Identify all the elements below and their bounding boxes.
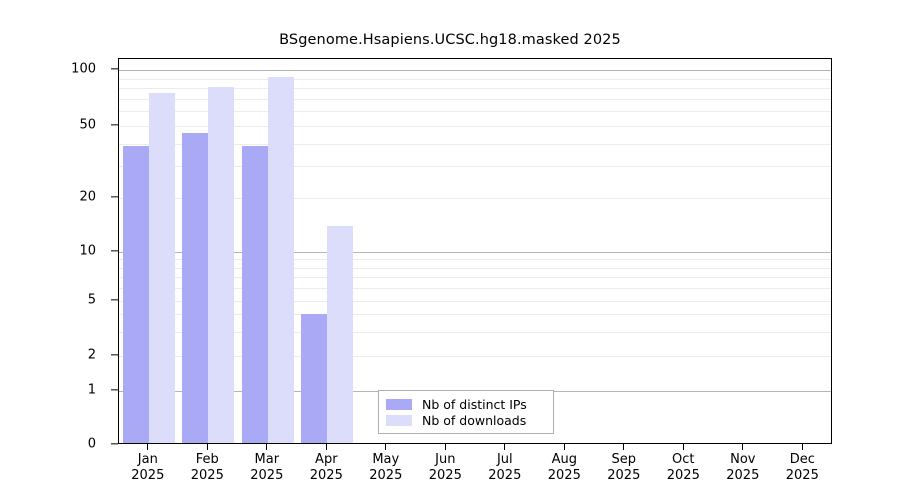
x-tick-label-dec: Dec2025 xyxy=(786,452,819,484)
bar-apr-distinct-ips xyxy=(301,314,327,444)
y-tick-label: 50 xyxy=(79,118,96,133)
bar-mar-distinct-ips xyxy=(242,146,268,445)
x-tick-month: Feb xyxy=(191,452,224,468)
x-tick-mark xyxy=(385,444,386,450)
y-tick-mark xyxy=(111,250,118,251)
x-tick-month: Apr xyxy=(310,452,343,468)
gridline-minor xyxy=(119,79,831,80)
x-tick-label-jan: Jan2025 xyxy=(131,452,164,484)
legend-item[interactable]: Nb of distinct IPs xyxy=(386,396,546,412)
y-tick-label: 2 xyxy=(88,348,96,363)
x-tick-month: Nov xyxy=(726,452,759,468)
y-tick-label: 20 xyxy=(79,190,96,205)
x-tick-label-jul: Jul2025 xyxy=(488,452,521,484)
x-tick-mark xyxy=(147,444,148,450)
x-tick-mark xyxy=(564,444,565,450)
x-tick-mark xyxy=(445,444,446,450)
x-tick-year: 2025 xyxy=(488,468,521,484)
chart-title: BSgenome.Hsapiens.UCSC.hg18.masked 2025 xyxy=(0,32,900,48)
x-tick-month: Sep xyxy=(607,452,640,468)
chart-page: BSgenome.Hsapiens.UCSC.hg18.masked 2025 … xyxy=(0,0,900,500)
y-axis: 0125102050100 xyxy=(0,0,118,500)
y-tick-mark xyxy=(111,68,118,69)
x-tick-mark xyxy=(742,444,743,450)
x-axis: Jan2025Feb2025Mar2025Apr2025May2025Jun20… xyxy=(118,444,832,500)
x-tick-month: May xyxy=(369,452,402,468)
x-tick-month: Jan xyxy=(131,452,164,468)
y-tick-mark xyxy=(111,196,118,197)
x-tick-month: Dec xyxy=(786,452,819,468)
y-tick-label: 0 xyxy=(88,437,96,452)
legend-label-downloads: Nb of downloads xyxy=(422,413,526,428)
y-tick-label: 5 xyxy=(88,293,96,308)
x-tick-year: 2025 xyxy=(191,468,224,484)
bar-feb-distinct-ips xyxy=(182,133,208,444)
x-tick-year: 2025 xyxy=(310,468,343,484)
plot-area xyxy=(118,58,832,444)
y-tick-mark xyxy=(111,299,118,300)
x-tick-mark xyxy=(683,444,684,450)
x-tick-mark xyxy=(504,444,505,450)
x-tick-label-may: May2025 xyxy=(369,452,402,484)
y-tick-label: 10 xyxy=(79,244,96,259)
x-tick-mark xyxy=(802,444,803,450)
x-tick-label-aug: Aug2025 xyxy=(548,452,581,484)
x-tick-month: Jun xyxy=(429,452,462,468)
x-tick-mark xyxy=(207,444,208,450)
x-tick-year: 2025 xyxy=(786,468,819,484)
x-tick-year: 2025 xyxy=(429,468,462,484)
x-tick-mark xyxy=(326,444,327,450)
y-tick-mark xyxy=(111,443,118,444)
x-tick-year: 2025 xyxy=(726,468,759,484)
y-tick-mark xyxy=(111,389,118,390)
x-tick-label-mar: Mar2025 xyxy=(250,452,283,484)
legend-label-distinct-ips: Nb of distinct IPs xyxy=(422,397,527,412)
y-tick-mark xyxy=(111,354,118,355)
y-tick-mark xyxy=(111,124,118,125)
x-tick-year: 2025 xyxy=(667,468,700,484)
x-tick-mark xyxy=(266,444,267,450)
x-tick-month: Oct xyxy=(667,452,700,468)
x-tick-year: 2025 xyxy=(607,468,640,484)
gridline-major xyxy=(119,70,831,71)
x-tick-label-oct: Oct2025 xyxy=(667,452,700,484)
x-tick-label-jun: Jun2025 xyxy=(429,452,462,484)
x-tick-label-feb: Feb2025 xyxy=(191,452,224,484)
legend-swatch-downloads xyxy=(386,415,412,426)
x-tick-year: 2025 xyxy=(548,468,581,484)
bar-apr-downloads xyxy=(327,226,353,444)
bar-mar-downloads xyxy=(268,77,294,444)
x-tick-year: 2025 xyxy=(250,468,283,484)
chart-legend: Nb of distinct IPs Nb of downloads xyxy=(378,390,554,434)
x-tick-year: 2025 xyxy=(369,468,402,484)
x-tick-label-nov: Nov2025 xyxy=(726,452,759,484)
x-tick-mark xyxy=(623,444,624,450)
y-tick-label: 1 xyxy=(88,383,96,398)
bar-jan-distinct-ips xyxy=(123,146,149,445)
x-tick-label-sep: Sep2025 xyxy=(607,452,640,484)
x-tick-year: 2025 xyxy=(131,468,164,484)
bar-feb-downloads xyxy=(208,87,234,444)
legend-item[interactable]: Nb of downloads xyxy=(386,412,546,428)
bar-jan-downloads xyxy=(149,93,175,444)
x-tick-month: Aug xyxy=(548,452,581,468)
x-tick-month: Mar xyxy=(250,452,283,468)
legend-swatch-distinct-ips xyxy=(386,399,412,410)
x-tick-month: Jul xyxy=(488,452,521,468)
y-tick-label: 100 xyxy=(71,62,96,77)
x-tick-label-apr: Apr2025 xyxy=(310,452,343,484)
